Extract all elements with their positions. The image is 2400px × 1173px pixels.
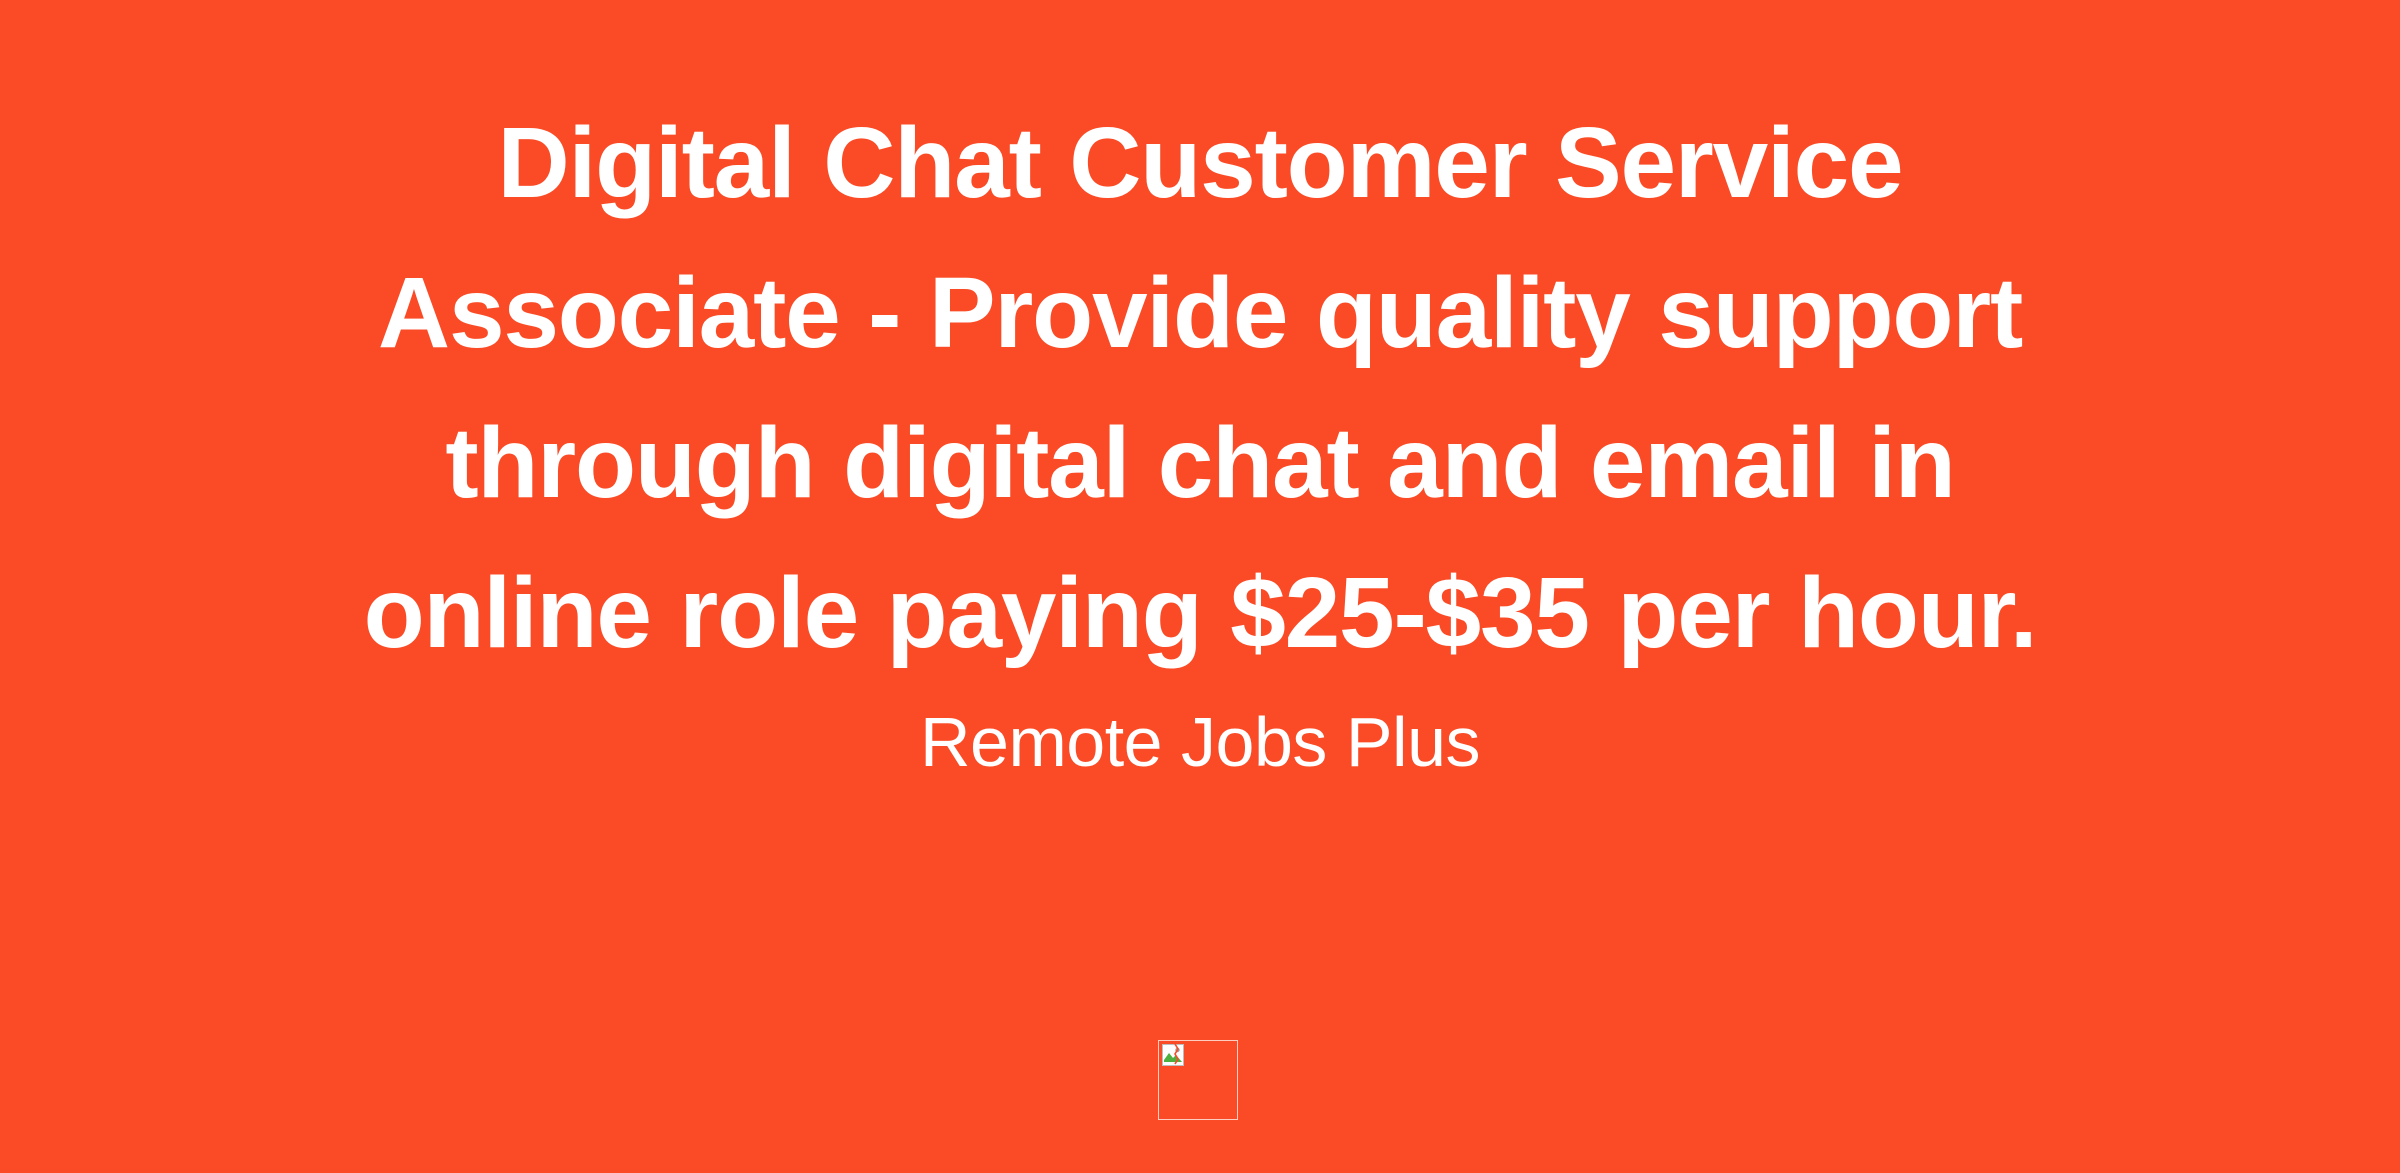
page-title: Digital Chat Customer Service Associate …	[350, 88, 2050, 688]
page-root: Digital Chat Customer Service Associate …	[0, 0, 2400, 1173]
site-name: Remote Jobs Plus	[920, 700, 1480, 784]
broken-image-placeholder[interactable]	[1158, 1040, 1238, 1120]
broken-image-icon	[1162, 1044, 1184, 1066]
hero-image-slot[interactable]	[1158, 1040, 1238, 1120]
